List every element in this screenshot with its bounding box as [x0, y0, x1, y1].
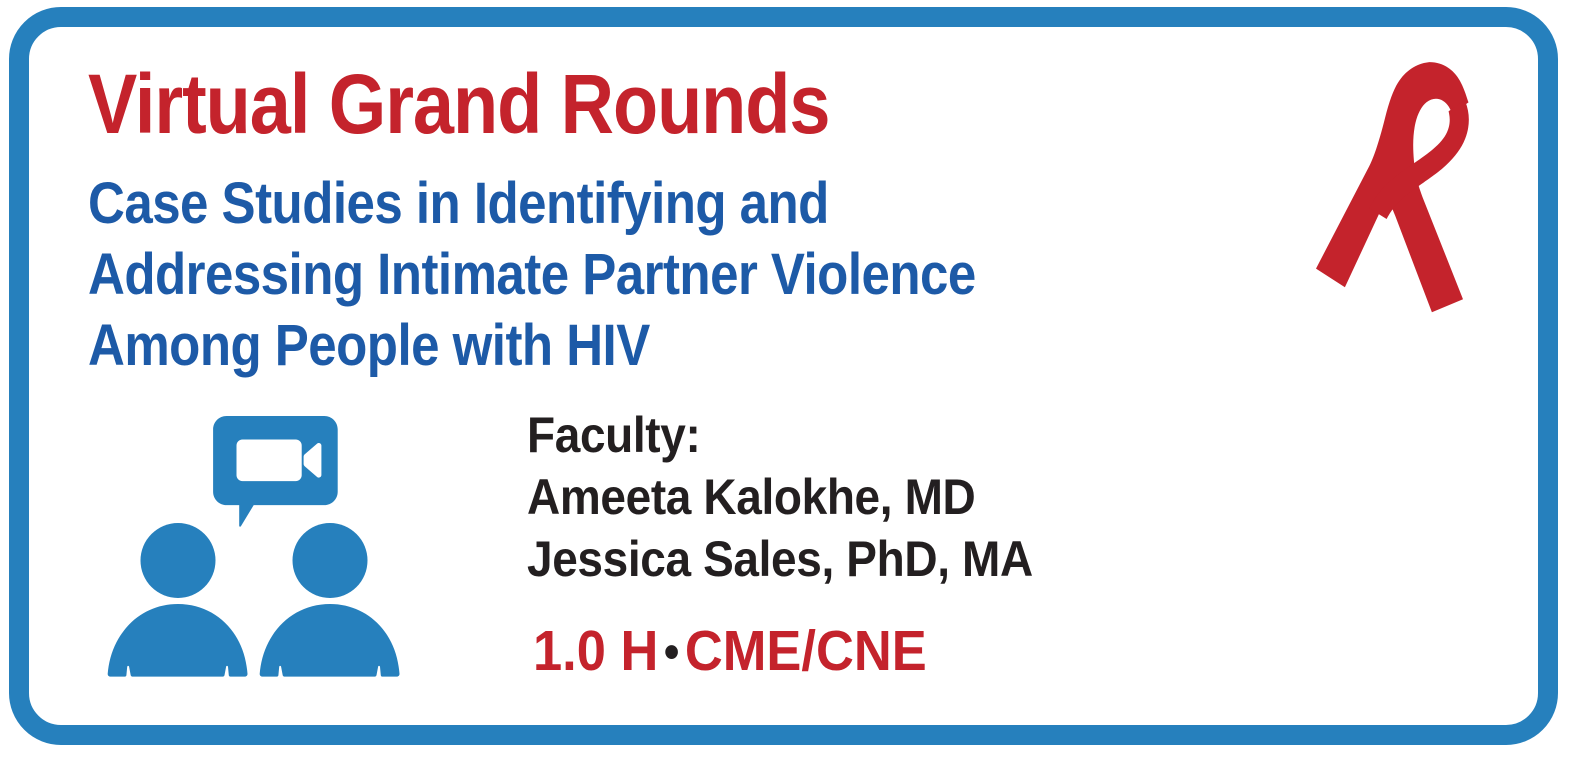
video-speech-bubble-icon [213, 416, 338, 527]
faculty-member-1: Ameeta Kalokhe, MD [527, 466, 1033, 528]
credit-line: 1.0 H•CME/CNE [533, 619, 927, 685]
bullet-separator-icon: • [658, 626, 685, 679]
person-left-icon [108, 523, 248, 677]
faculty-label: Faculty: [527, 404, 1033, 466]
faculty-block: Faculty: Ameeta Kalokhe, MD Jessica Sale… [527, 404, 1033, 590]
person-right-icon [260, 523, 400, 677]
red-awareness-ribbon-icon [1316, 60, 1484, 314]
subtitle-line-1: Case Studies in Identifying and [88, 168, 976, 239]
credit-hours: 1.0 H [533, 619, 658, 683]
virtual-grand-rounds-card: Virtual Grand Rounds Case Studies in Ide… [0, 0, 1588, 758]
faculty-member-2: Jessica Sales, PhD, MA [527, 528, 1033, 590]
subtitle: Case Studies in Identifying and Addressi… [88, 168, 976, 381]
credit-types: CME/CNE [685, 619, 927, 683]
page-title: Virtual Grand Rounds [88, 62, 829, 146]
subtitle-line-2: Addressing Intimate Partner Violence [88, 239, 976, 310]
subtitle-line-3: Among People with HIV [88, 310, 976, 381]
two-people-video-chat-icon [92, 412, 414, 694]
